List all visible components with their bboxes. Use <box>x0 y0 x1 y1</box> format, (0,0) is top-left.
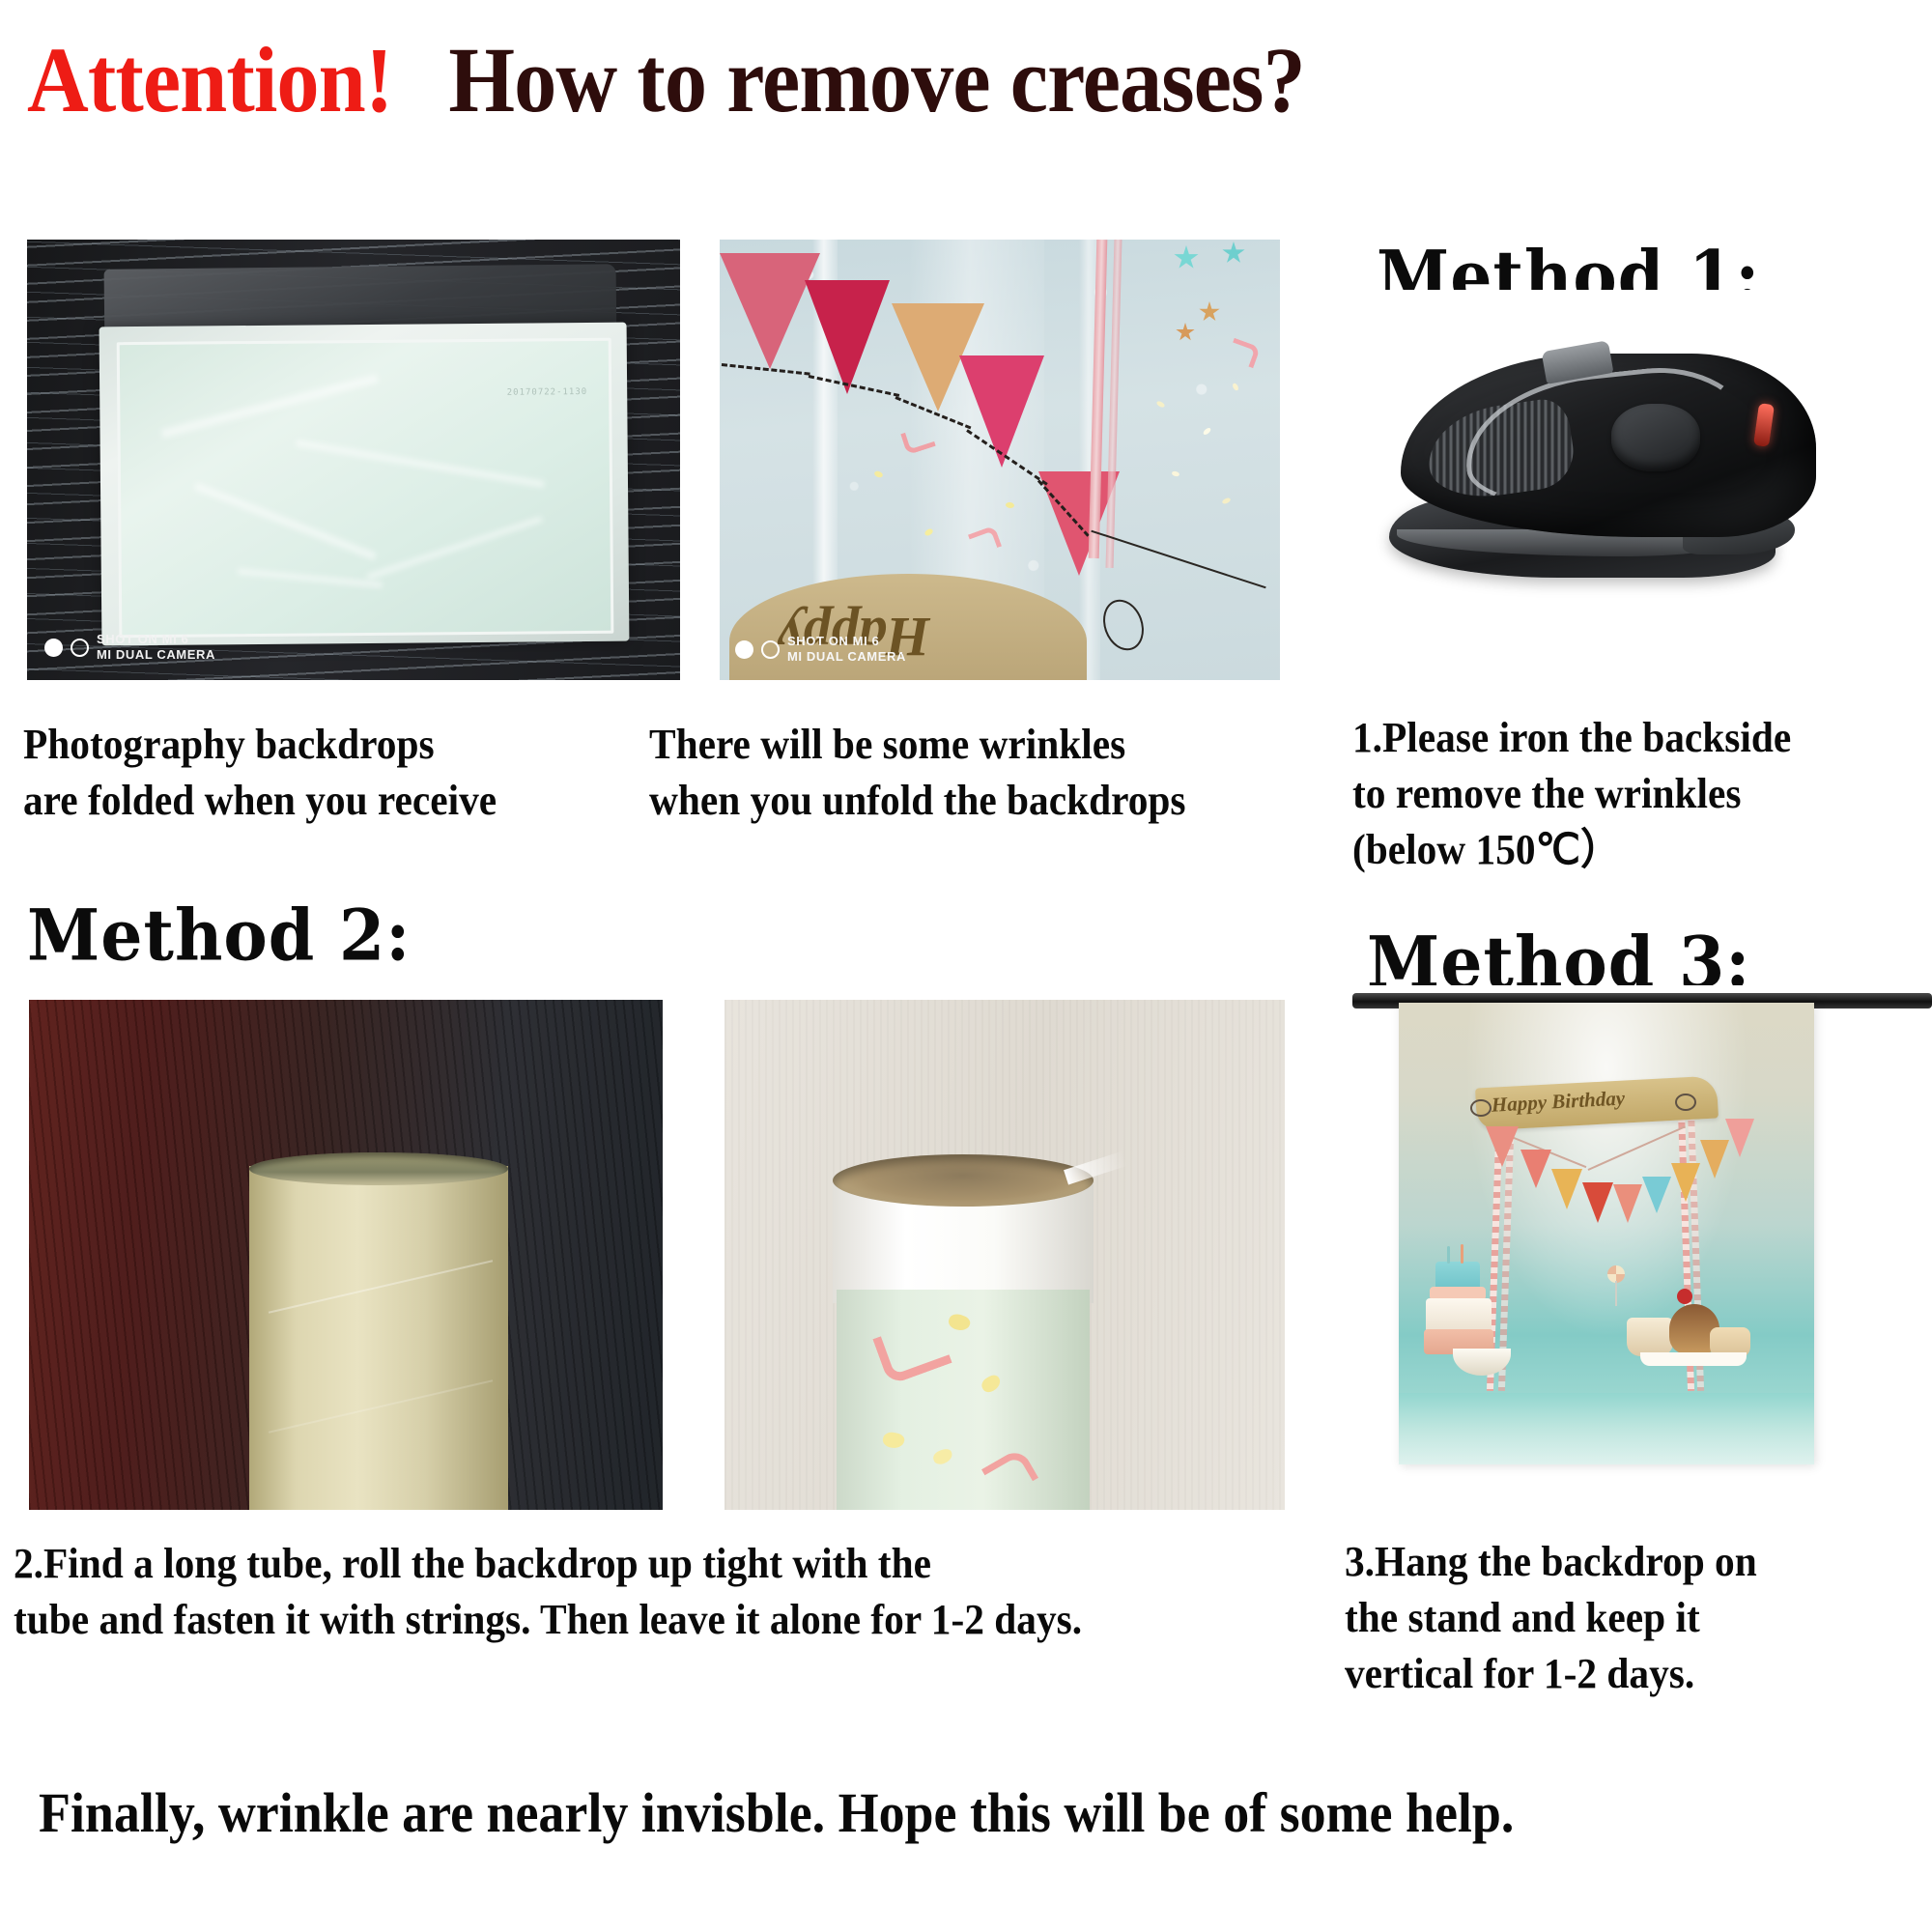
bow-knot-right <box>1675 1094 1696 1111</box>
bag-print-code: 20170722-1130 <box>507 387 588 398</box>
headline-question: How to remove creases? <box>448 28 1304 131</box>
bunting-flag <box>1613 1184 1642 1223</box>
iron-temperature-knob <box>1611 404 1700 471</box>
watermark-dot-outline-icon <box>71 639 89 657</box>
banner-text: Happy Birthday <box>1491 1086 1625 1117</box>
photo-folded-backdrop-in-bag: 20170722-1130 SHOT ON MI 6 MI DUAL CAMER… <box>27 240 680 680</box>
bunting-flag <box>959 355 1044 468</box>
caption-method-2-instructions: 2.Find a long tube, roll the backdrop up… <box>14 1536 1082 1648</box>
tiered-birthday-cake <box>1424 1244 1495 1360</box>
mi-watermark: SHOT ON MI 6 MI DUAL CAMERA <box>735 634 906 665</box>
watermark-line-2: MI DUAL CAMERA <box>787 649 906 665</box>
watermark-line-1: SHOT ON MI 6 <box>97 632 215 647</box>
headline-attention: Attention! <box>27 28 392 131</box>
bunting-flag <box>1551 1169 1582 1209</box>
watermark-dot-outline-icon <box>761 640 780 659</box>
footer-note: Finally, wrinkle are nearly invisble. Ho… <box>39 1779 1514 1847</box>
tube-open-rim <box>249 1152 508 1185</box>
bunting-flag <box>1725 1119 1754 1157</box>
caption-folded-backdrops: Photography backdrops are folded when yo… <box>23 717 497 829</box>
plastic-bag: 20170722-1130 <box>99 323 630 646</box>
bunting-flag <box>1520 1150 1551 1188</box>
photo-clothes-iron <box>1372 290 1874 657</box>
photo-backdrop-rolled-on-tube <box>724 1000 1285 1510</box>
bow-knot-left <box>1470 1099 1492 1117</box>
caption-wrinkles-on-unfold: There will be some wrinkles when you unf… <box>649 717 1185 829</box>
photo-cardboard-tube-on-wood <box>29 1000 663 1510</box>
photo-unfolded-wrinkled-backdrop: Happy SHOT ON MI 6 MI DUAL CAMERA <box>720 240 1280 680</box>
backdrop-printed-surface <box>837 1290 1090 1510</box>
poster-root: Attention! How to remove creases? 201707… <box>0 0 1932 1932</box>
page-title: Attention! How to remove creases? <box>27 27 1305 133</box>
backdrop-floor-area <box>1399 1393 1814 1464</box>
caption-method-3-instructions: 3.Hang the backdrop on the stand and kee… <box>1345 1534 1757 1702</box>
bunting-flag <box>1582 1182 1613 1223</box>
tube-open-rim <box>833 1154 1094 1207</box>
cardboard-tube <box>249 1166 508 1510</box>
method-2-heading: Method 2: <box>27 898 411 974</box>
bunting-flag <box>1486 1126 1519 1167</box>
mi-watermark: SHOT ON MI 6 MI DUAL CAMERA <box>44 632 215 663</box>
hanging-backdrop-cloth: Happy Birthday <box>1399 1003 1814 1464</box>
watermark-dot-filled-icon <box>735 640 753 659</box>
photo-backdrop-hanging-on-stand: Happy Birthday <box>1352 985 1932 1507</box>
bunting-flag <box>1671 1163 1700 1202</box>
folded-backdrop-sheet: 20170722-1130 <box>117 338 614 638</box>
lollipop-stick <box>1615 1281 1617 1306</box>
caption-method-1-instructions: 1.Please iron the backside to remove the… <box>1352 710 1791 878</box>
watermark-dot-filled-icon <box>44 639 63 657</box>
watermark-line-1: SHOT ON MI 6 <box>787 634 906 649</box>
cupcakes-cluster <box>1627 1285 1752 1368</box>
watermark-line-2: MI DUAL CAMERA <box>97 647 215 663</box>
bunting-flag <box>1642 1177 1671 1213</box>
